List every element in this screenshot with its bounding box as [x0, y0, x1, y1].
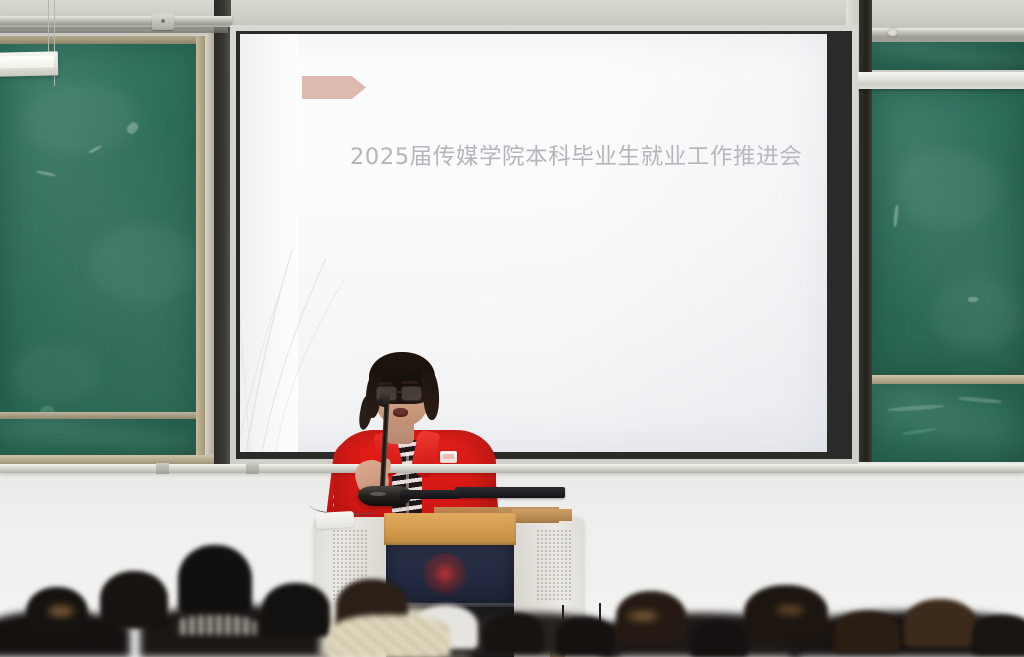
audience-patterned-shirt	[330, 615, 450, 657]
right-chalkboard-mullion	[872, 375, 1024, 384]
audience-head	[100, 571, 168, 629]
hair-highlight	[48, 605, 74, 617]
podium-monitor-secondary	[400, 490, 460, 499]
ceiling-rail-right-shadow	[872, 37, 1024, 42]
left-board-frame-top	[0, 36, 214, 44]
right-board-frame-left	[858, 0, 872, 462]
wall-gap-strip	[214, 0, 231, 470]
left-chalkboard-lower	[0, 418, 198, 456]
chalk-tray	[0, 464, 1024, 473]
hair-highlight	[776, 605, 804, 615]
audience-head	[834, 611, 900, 653]
lecture-hall-photo: 2025届传媒学院本科毕业生就业工作推进会	[0, 0, 1024, 657]
audience-head	[556, 617, 614, 655]
fluorescent-tube	[0, 55, 54, 68]
speaker-eyebrow-right	[401, 381, 418, 384]
left-board-frame-right-outer	[205, 30, 214, 466]
ceiling-pipe	[846, 72, 1024, 89]
right-chalkboard-lower	[872, 384, 1024, 462]
audience-head	[690, 621, 748, 657]
speaker-eyebrow-left	[377, 382, 393, 385]
rail-bracket-icon	[152, 14, 174, 30]
slide-accent-arrow	[302, 76, 366, 99]
right-chalkboard-top	[872, 42, 1024, 70]
hanging-wire	[48, 0, 49, 56]
left-chalkboard	[0, 44, 200, 456]
glasses-bridge-icon	[395, 391, 401, 393]
audience-head	[484, 613, 544, 653]
glasses-right-lens-icon	[401, 386, 422, 401]
podium-papers	[316, 511, 355, 529]
ceiling-rail-left	[0, 16, 232, 27]
chalk-tray-seam	[246, 463, 259, 474]
audience-head	[972, 615, 1024, 655]
podium-monitor	[455, 487, 565, 498]
ceiling-rail-left-shadow	[0, 27, 228, 33]
hair-highlight	[628, 611, 658, 621]
audience-head	[178, 545, 252, 615]
speaker-mouth	[393, 408, 408, 417]
rail-knob-icon	[888, 29, 897, 36]
audience-head	[904, 599, 976, 647]
chalk-tray-seam	[156, 463, 169, 474]
podium-side-wood-rail	[512, 509, 572, 521]
audience	[0, 540, 1024, 657]
slide-title: 2025届传媒学院本科毕业生就业工作推进会	[350, 139, 802, 171]
right-chalkboard	[872, 89, 1024, 375]
speaker-badge	[440, 451, 457, 463]
audience-head	[262, 583, 330, 637]
projection-screen: 2025届传媒学院本科毕业生就业工作推进会	[240, 34, 827, 452]
audience-striped-collar	[176, 615, 256, 635]
left-chalkboard-mullion	[0, 412, 200, 419]
